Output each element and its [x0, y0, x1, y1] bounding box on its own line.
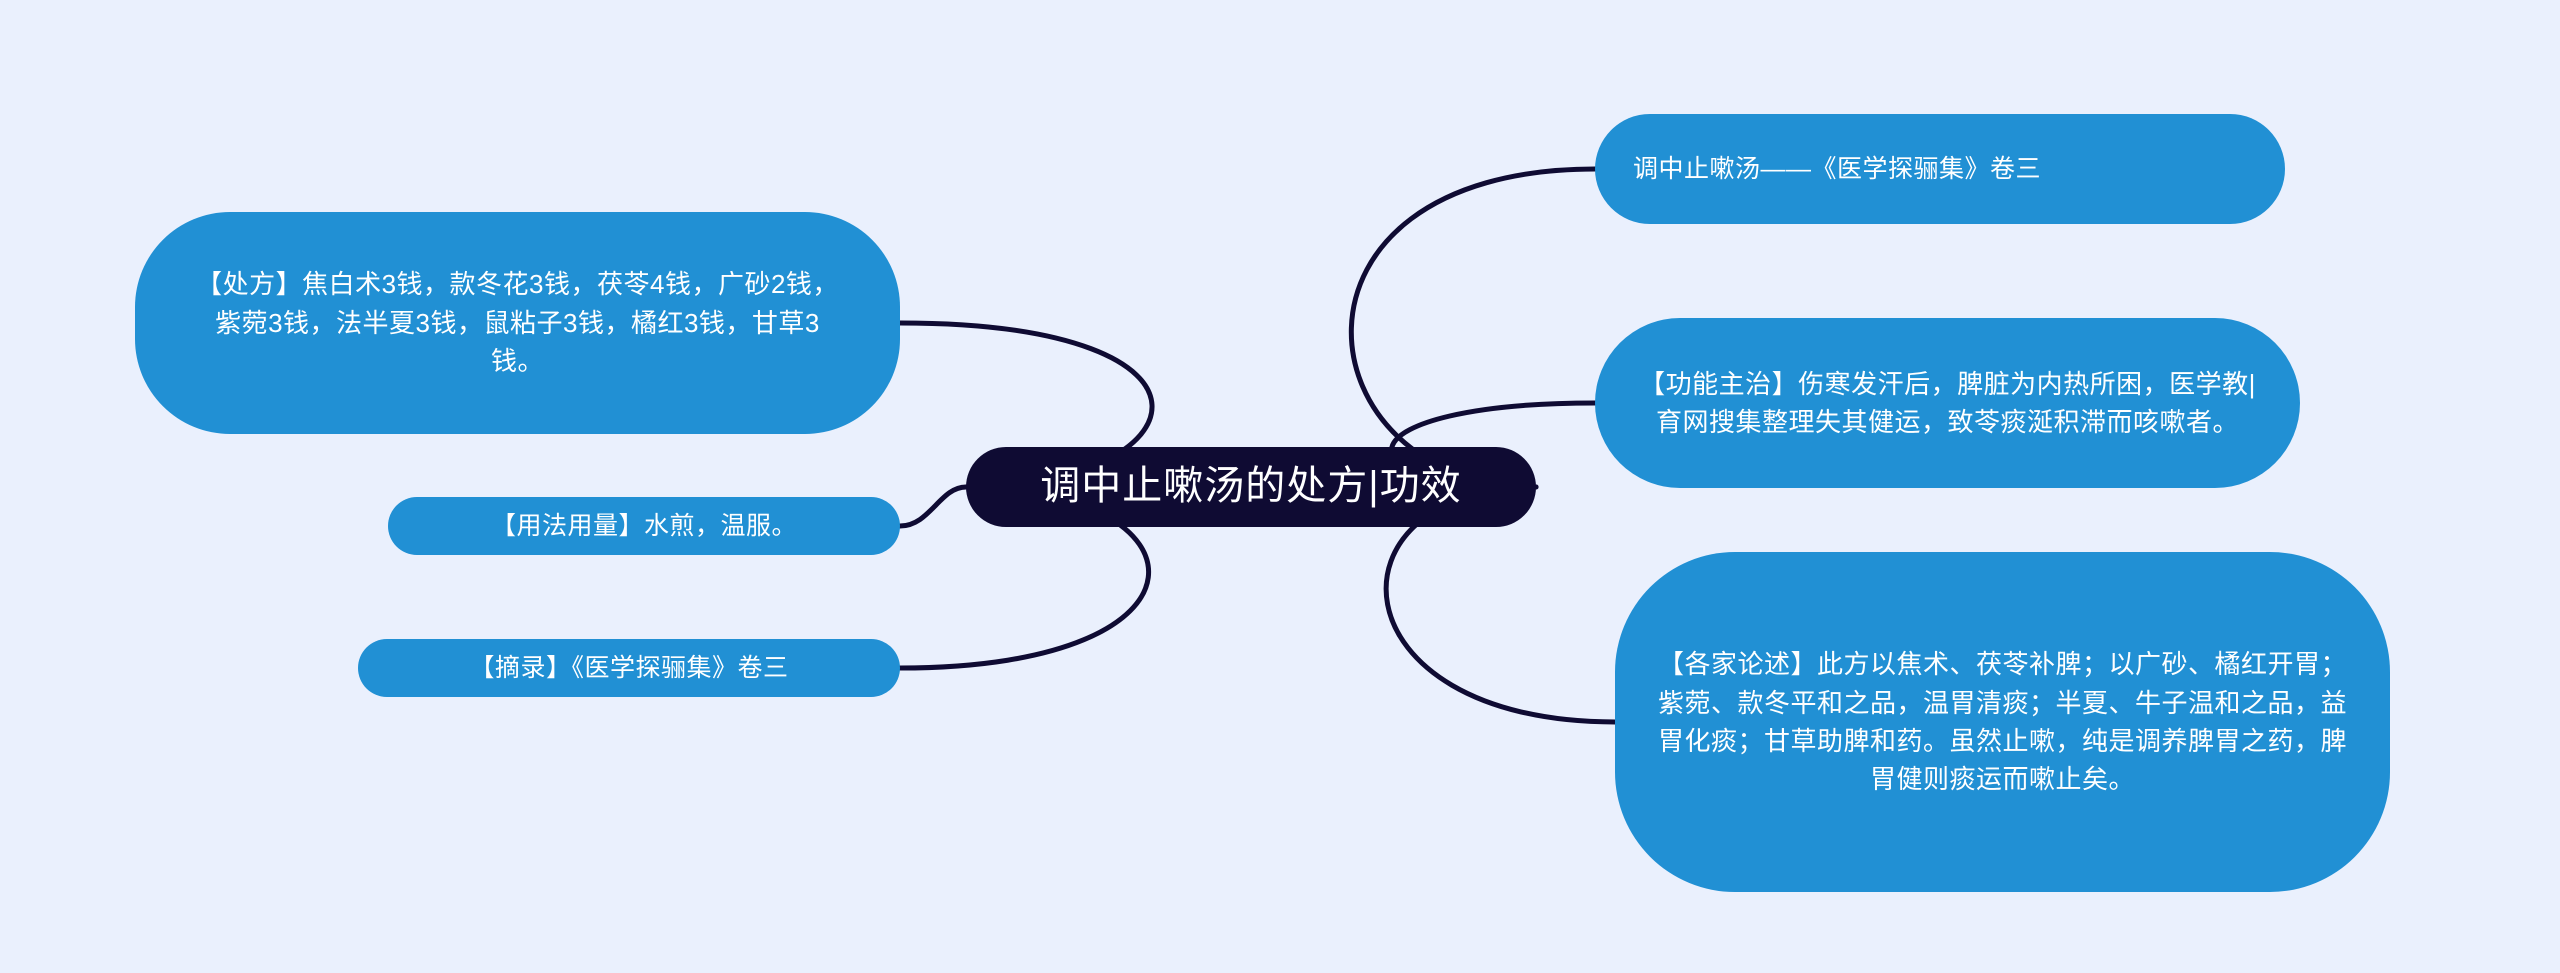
root-node-label: 调中止嗽汤的处方|功效 — [966, 457, 1536, 516]
connector-root-usage — [900, 487, 966, 526]
mindmap-canvas: 调中止嗽汤的处方|功效 【处方】焦白术3钱，款冬花3钱，茯苓4钱，广砂2钱，紫菀… — [0, 0, 2560, 973]
branch-node-function-label: 【功能主治】伤寒发汗后，脾脏为内热所困，医学教|育网搜集整理失其健运，致苓痰涎积… — [1629, 365, 2266, 442]
branch-node-recipe[interactable]: 【处方】焦白术3钱，款冬花3钱，茯苓4钱，广砂2钱，紫菀3钱，法半夏3钱，鼠粘子… — [135, 212, 900, 434]
branch-node-usage-label: 【用法用量】水煎，温服。 — [414, 508, 874, 545]
branch-node-excerpt[interactable]: 【摘录】《医学探骊集》卷三 — [358, 639, 900, 697]
root-node[interactable]: 调中止嗽汤的处方|功效 — [966, 447, 1536, 527]
branch-node-function[interactable]: 【功能主治】伤寒发汗后，脾脏为内热所困，医学教|育网搜集整理失其健运，致苓痰涎积… — [1595, 318, 2300, 488]
branch-node-usage[interactable]: 【用法用量】水煎，温服。 — [388, 497, 900, 555]
branch-node-discuss[interactable]: 【各家论述】此方以焦术、茯苓补脾；以广砂、橘红开胃；紫菀、款冬平和之品，温胃清痰… — [1615, 552, 2390, 892]
branch-node-discuss-label: 【各家论述】此方以焦术、茯苓补脾；以广砂、橘红开胃；紫菀、款冬平和之品，温胃清痰… — [1657, 645, 2348, 799]
connector-root-source — [1351, 169, 1595, 487]
branch-node-recipe-label: 【处方】焦白术3钱，款冬花3钱，茯苓4钱，广砂2钱，紫菀3钱，法半夏3钱，鼠粘子… — [191, 265, 844, 380]
branch-node-excerpt-label: 【摘录】《医学探骊集》卷三 — [384, 650, 874, 687]
branch-node-source-label: 调中止嗽汤——《医学探骊集》卷三 — [1633, 151, 2247, 188]
branch-node-source[interactable]: 调中止嗽汤——《医学探骊集》卷三 — [1595, 114, 2285, 224]
